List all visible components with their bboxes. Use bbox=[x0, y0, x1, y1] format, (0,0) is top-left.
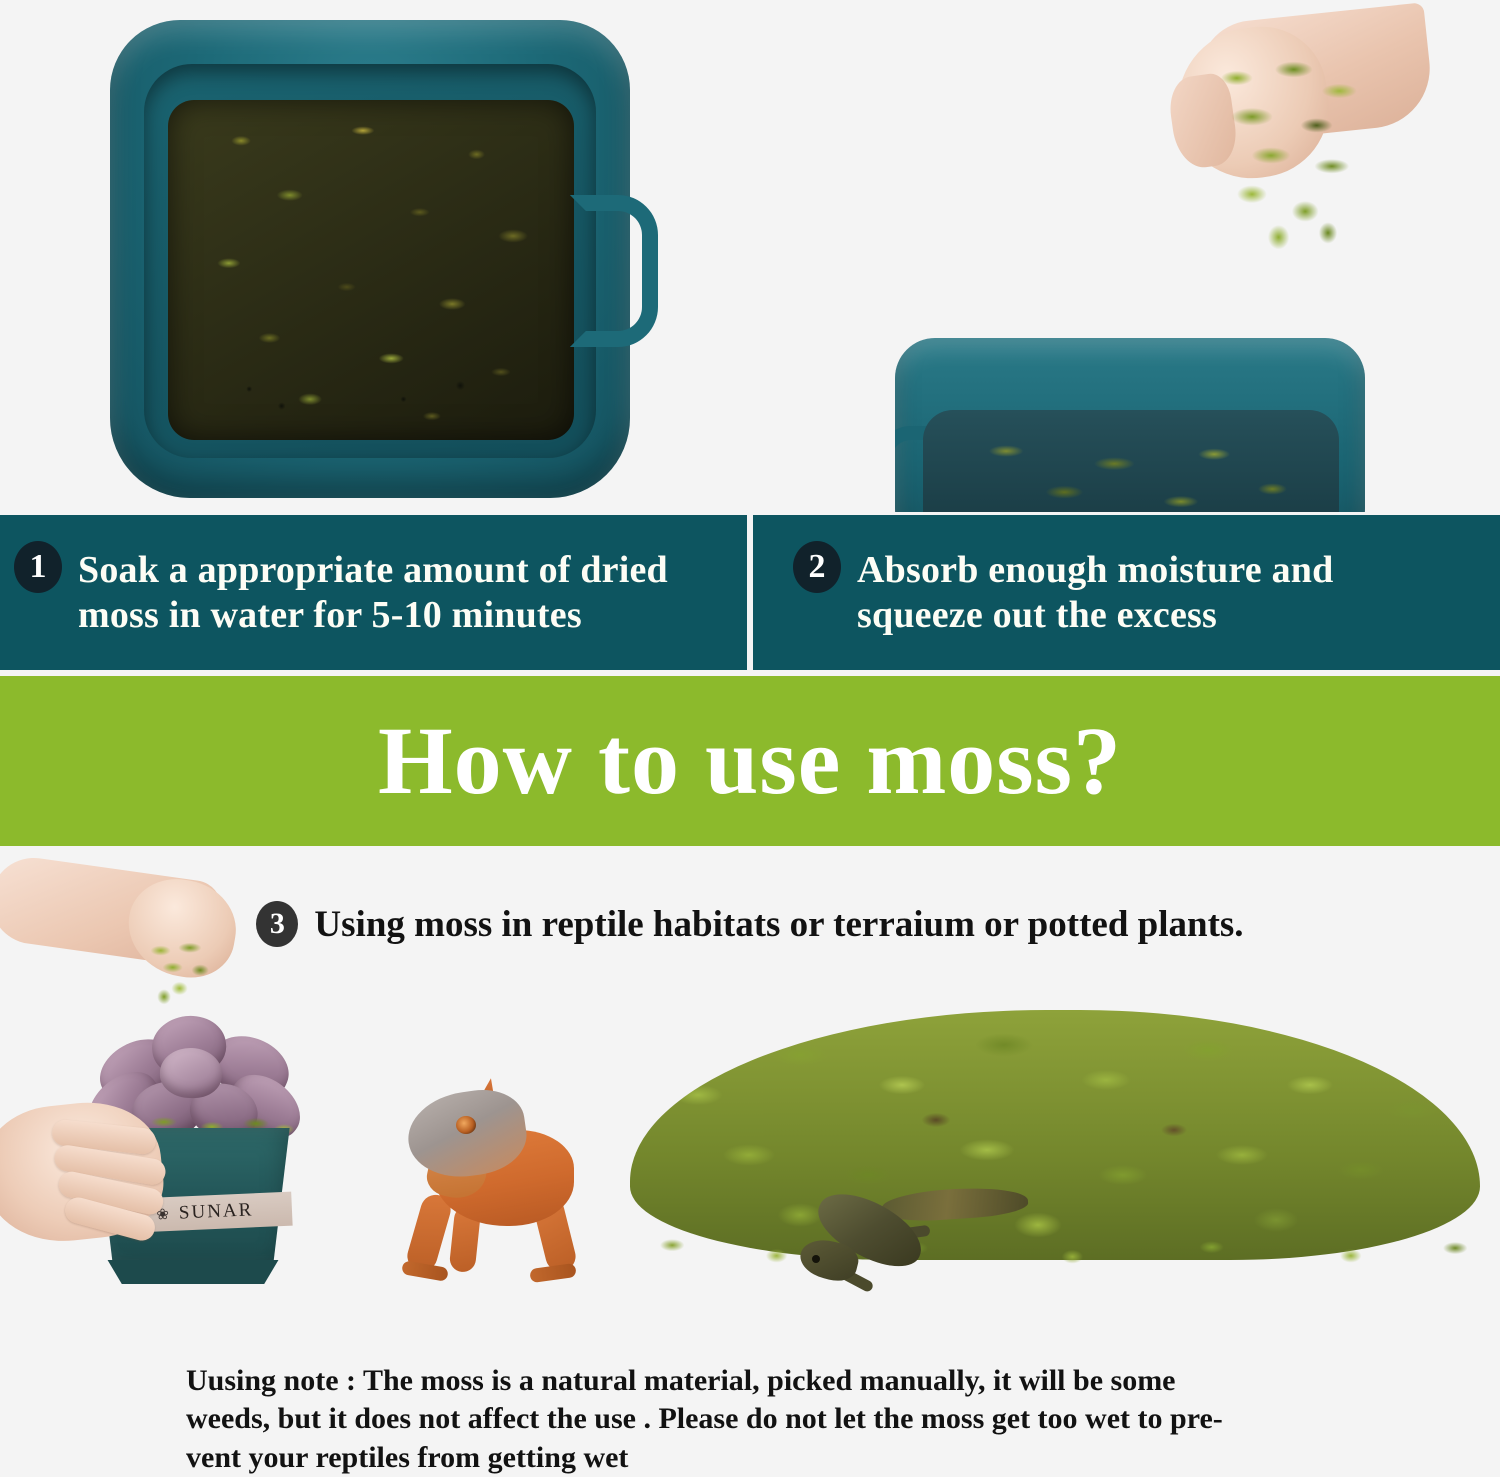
usage-note: Uusing note : The moss is a natural mate… bbox=[186, 1362, 1366, 1477]
step1-photo bbox=[0, 0, 750, 512]
iguana-eye bbox=[456, 1116, 476, 1134]
step-photos-row bbox=[0, 0, 1500, 512]
salamander-tail bbox=[881, 1184, 1029, 1224]
dried-moss-pile bbox=[630, 1010, 1480, 1260]
step2-photo bbox=[750, 0, 1500, 512]
holding-fingers bbox=[52, 1122, 202, 1234]
salamander-figure bbox=[800, 1185, 1030, 1295]
step1-caption: 1 Soak a appropriate amount of dried mos… bbox=[0, 515, 747, 670]
step2-caption-text: Absorb enough moisture and squeeze out t… bbox=[857, 548, 1447, 638]
squeezed-moss-clump bbox=[1195, 48, 1385, 263]
step-captions-row: 1 Soak a appropriate amount of dried mos… bbox=[0, 515, 1500, 670]
usage-note-line-3: vent your reptiles from getting wet bbox=[186, 1439, 1366, 1477]
basin-water-with-moss bbox=[923, 410, 1339, 512]
iguana-figure bbox=[380, 1078, 640, 1298]
usage-note-line-1: Uusing note : The moss is a natural mate… bbox=[186, 1362, 1366, 1400]
step-number-badge-2: 2 bbox=[793, 541, 841, 593]
squeezing-hand-image bbox=[1050, 10, 1260, 240]
step-number-badge-1: 1 bbox=[14, 541, 62, 593]
pinched-moss bbox=[140, 938, 226, 1008]
infographic-page: 1 Soak a appropriate amount of dried mos… bbox=[0, 0, 1500, 1477]
step1-caption-text: Soak a appropriate amount of dried moss … bbox=[78, 548, 728, 638]
basin-interior bbox=[144, 64, 596, 458]
salamander-eye bbox=[812, 1255, 820, 1263]
soaked-moss bbox=[168, 100, 574, 440]
step2-caption: 2 Absorb enough moisture and squeeze out… bbox=[753, 515, 1500, 670]
usage-note-line-2: weeds, but it does not affect the use . … bbox=[186, 1400, 1366, 1438]
page-title: How to use moss? bbox=[378, 713, 1122, 809]
iguana-foot bbox=[529, 1263, 577, 1283]
iguana-foot bbox=[401, 1260, 449, 1282]
draining-basin-image bbox=[895, 338, 1365, 512]
soaking-basin-image bbox=[110, 20, 630, 498]
usage-collage: D ❀ SUNAR bbox=[0, 860, 1500, 1340]
title-banner: How to use moss? bbox=[0, 676, 1500, 846]
pot-base bbox=[104, 1260, 282, 1284]
